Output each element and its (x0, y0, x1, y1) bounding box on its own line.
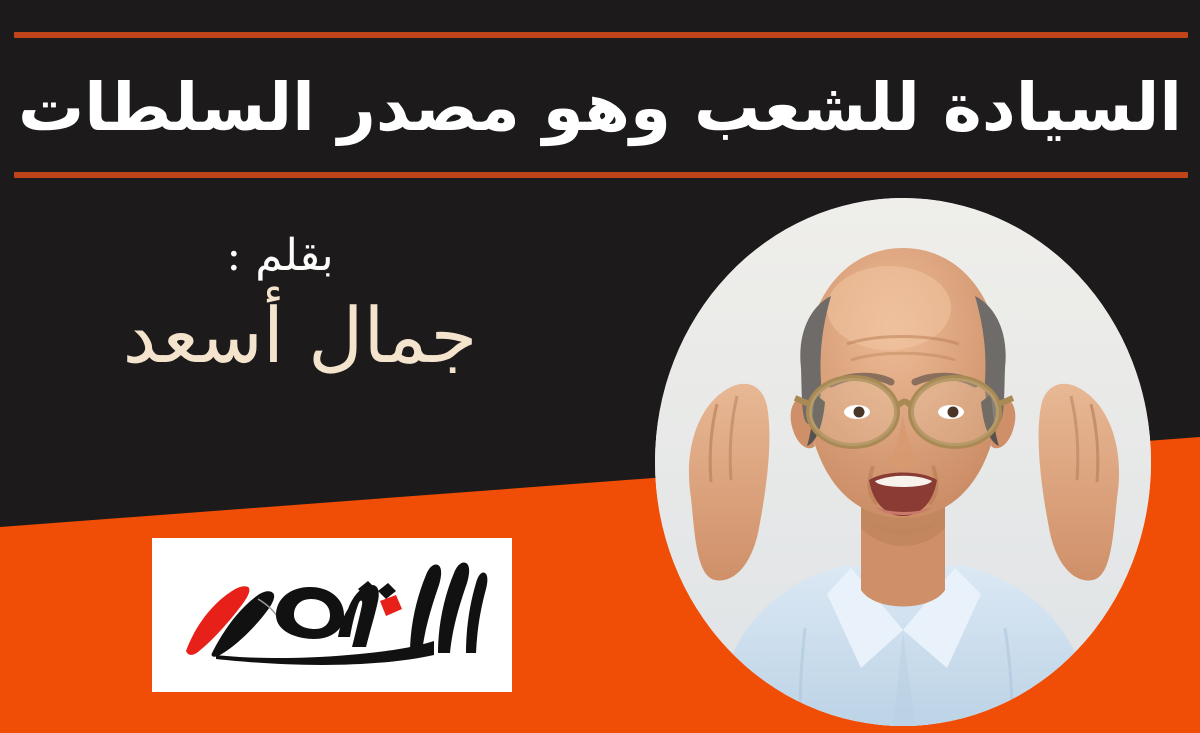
headline-text: السيادة للشعب وهو مصدر السلطات (0, 52, 1200, 164)
al-mashhad-logo-icon (172, 555, 492, 675)
byline-label: بقلم : (60, 232, 540, 280)
byline: بقلم : جمال أسعد (60, 232, 540, 380)
headline-rule-bottom (14, 172, 1188, 178)
publication-logo-card (152, 538, 512, 692)
article-banner: السيادة للشعب وهو مصدر السلطات بقلم : جم… (0, 0, 1200, 733)
headline-rule-top (14, 32, 1188, 38)
author-portrait (655, 198, 1151, 726)
byline-author-name: جمال أسعد (60, 292, 540, 379)
portrait-photo (655, 198, 1151, 726)
